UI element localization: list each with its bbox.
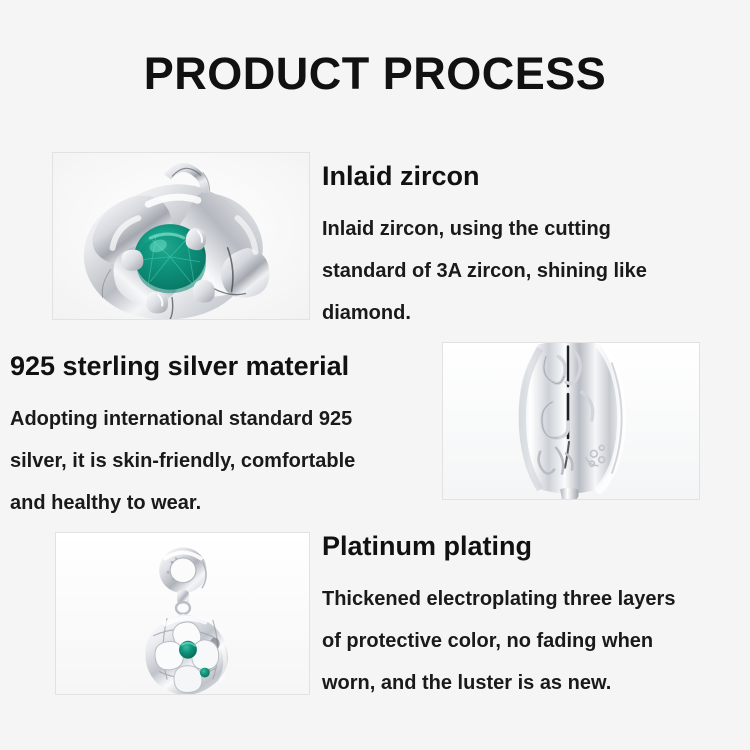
body-line: and healthy to wear. <box>10 482 440 524</box>
block-heading-inlaid-zircon: Inlaid zircon <box>322 160 480 192</box>
product-process-infographic: PRODUCT PROCESS <box>0 0 750 750</box>
product-photo-platinum-plating <box>55 532 310 695</box>
block-body-platinum-plating: Thickened electroplating three layers of… <box>322 578 742 704</box>
body-line: Inlaid zircon, using the cutting <box>322 208 734 250</box>
body-line: silver, it is skin-friendly, comfortable <box>10 440 440 482</box>
dangle-charm-illustration <box>56 533 309 694</box>
body-line: standard of 3A zircon, shining like <box>322 250 734 292</box>
block-body-sterling-silver: Adopting international standard 925 silv… <box>10 398 440 524</box>
product-photo-inlaid-zircon <box>52 152 310 320</box>
charm-bail-ring <box>159 548 207 594</box>
body-line: Adopting international standard 925 <box>10 398 440 440</box>
body-line: Thickened electroplating three layers <box>322 578 742 620</box>
block-heading-sterling-silver: 925 sterling silver material <box>10 350 349 382</box>
block-body-inlaid-zircon: Inlaid zircon, using the cutting standar… <box>322 208 734 334</box>
silver-bead <box>518 343 621 493</box>
inlaid-zircon-illustration <box>53 153 309 319</box>
body-line: diamond. <box>322 292 734 334</box>
page-title: PRODUCT PROCESS <box>0 48 750 100</box>
body-line: worn, and the luster is as new. <box>322 662 742 704</box>
silver-stamp-illustration <box>443 343 699 499</box>
body-line: of protective color, no fading when <box>322 620 742 662</box>
bead-stem <box>560 487 579 499</box>
product-photo-sterling-silver <box>442 342 700 500</box>
block-heading-platinum-plating: Platinum plating <box>322 530 532 562</box>
